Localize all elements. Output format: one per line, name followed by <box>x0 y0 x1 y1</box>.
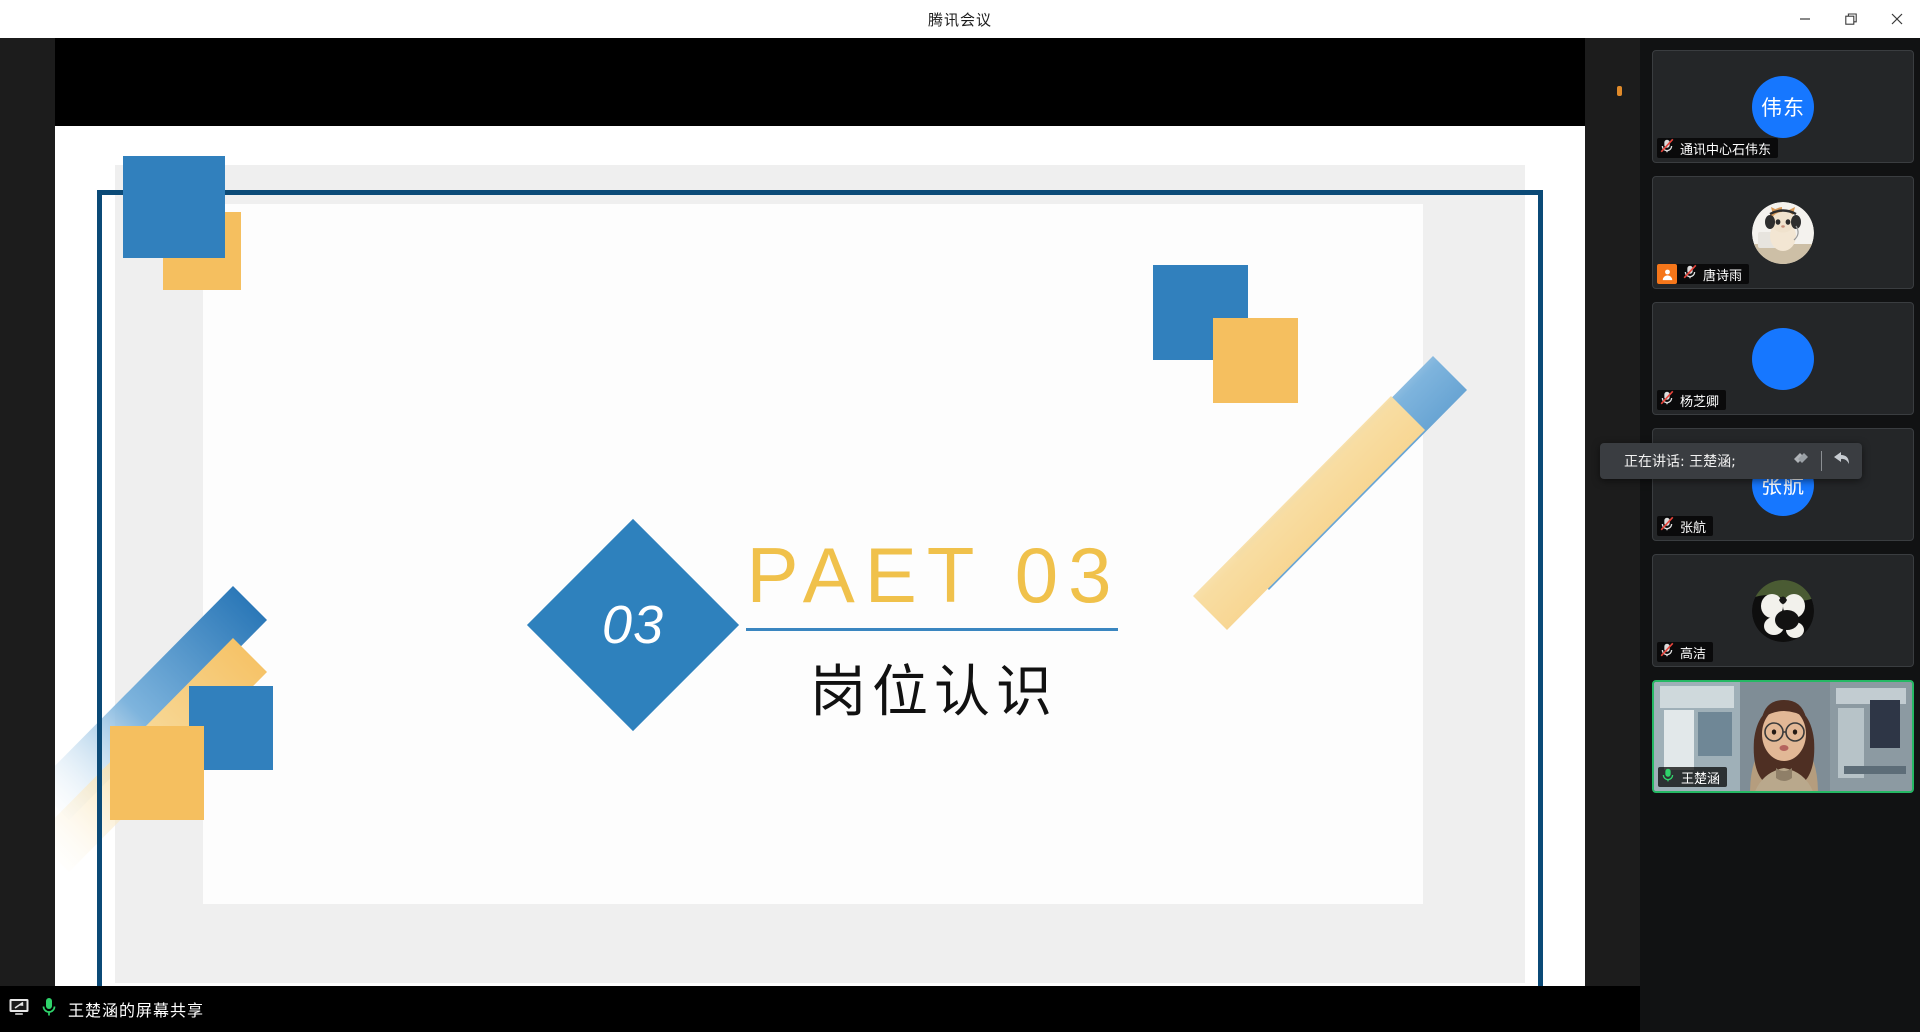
decor-square-yellow-right <box>1213 318 1298 403</box>
participant-name: 杨芝卿 <box>1680 391 1719 410</box>
mic-on-icon <box>40 996 58 1023</box>
avatar <box>1752 328 1814 390</box>
mic-muted-icon <box>1659 390 1675 411</box>
return-arrow-icon[interactable] <box>1830 449 1852 474</box>
avatar <box>1752 580 1814 642</box>
panda-avatar-image <box>1752 580 1814 642</box>
avatar: 伟东 <box>1752 76 1814 138</box>
participant-name: 通讯中心石伟东 <box>1680 139 1771 158</box>
participant-name: 张航 <box>1680 517 1706 536</box>
participant-tile[interactable]: 唐诗雨 <box>1652 176 1914 289</box>
participant-name-row: 通讯中心石伟东 <box>1657 138 1778 158</box>
mic-on-icon <box>1660 767 1676 788</box>
mic-muted-icon <box>1659 138 1675 159</box>
participant-name-row: 王楚涵 <box>1658 767 1727 787</box>
meeting-stage: 03 PAET 03 岗位认识 王楚涵的屏幕共享 <box>0 38 1640 1032</box>
participant-tile[interactable]: 杨芝卿 <box>1652 302 1914 415</box>
speaking-toolbar-tools <box>1791 449 1862 474</box>
collapse-panel-icon[interactable] <box>1791 449 1813 474</box>
screen-share-status-bar: 王楚涵的屏幕共享 <box>0 986 1640 1032</box>
participant-tile-self[interactable]: 王楚涵 <box>1652 680 1914 793</box>
participant-name-row: 唐诗雨 <box>1657 264 1749 284</box>
mic-muted-icon <box>1659 642 1675 663</box>
avatar <box>1752 202 1814 264</box>
screen-share-icon <box>8 996 30 1023</box>
slide-title-cn: 岗位认识 <box>744 647 1124 728</box>
toolbar-divider <box>1821 451 1822 471</box>
participant-name-row: 张航 <box>1657 516 1713 536</box>
presentation-slide: 03 PAET 03 岗位认识 <box>55 126 1585 986</box>
avatar-initials: 伟东 <box>1761 92 1805 122</box>
speaking-toolbar[interactable]: 正在讲话: 王楚涵; <box>1600 443 1862 479</box>
maximize-button[interactable] <box>1828 0 1874 38</box>
decor-square-blue-topleft <box>123 156 225 258</box>
section-number-label: 03 <box>558 550 708 700</box>
close-button[interactable] <box>1874 0 1920 38</box>
mic-muted-icon <box>1682 264 1698 285</box>
host-badge-icon <box>1657 264 1677 284</box>
participant-rail[interactable]: 伟东 通讯中心石伟东 <box>1640 38 1920 1032</box>
slide-title-rule <box>746 628 1118 631</box>
participant-tile[interactable]: 伟东 通讯中心石伟东 <box>1652 50 1914 163</box>
participant-name: 唐诗雨 <box>1703 265 1742 284</box>
minimize-button[interactable] <box>1782 0 1828 38</box>
window-controls <box>1782 0 1920 38</box>
participant-name-row: 高洁 <box>1657 642 1713 662</box>
cat-avatar-image <box>1752 202 1814 264</box>
participant-name: 高洁 <box>1680 643 1706 662</box>
screen-share-label: 王楚涵的屏幕共享 <box>68 997 204 1021</box>
slide-headline: PAET 03 岗位认识 <box>744 536 1124 728</box>
speaking-status-text: 正在讲话: 王楚涵; <box>1624 451 1736 471</box>
window-title-bar: 腾讯会议 <box>0 0 1920 38</box>
participant-name: 王楚涵 <box>1681 768 1720 787</box>
decor-square-yellow-bottomleft <box>110 726 204 820</box>
participant-tile[interactable]: 高洁 <box>1652 554 1914 667</box>
slide-title-en: PAET 03 <box>744 536 1124 614</box>
mic-muted-icon <box>1659 516 1675 537</box>
app-title: 腾讯会议 <box>928 9 992 30</box>
participant-name-row: 杨芝卿 <box>1657 390 1726 410</box>
recording-indicator-dot <box>1617 86 1622 96</box>
